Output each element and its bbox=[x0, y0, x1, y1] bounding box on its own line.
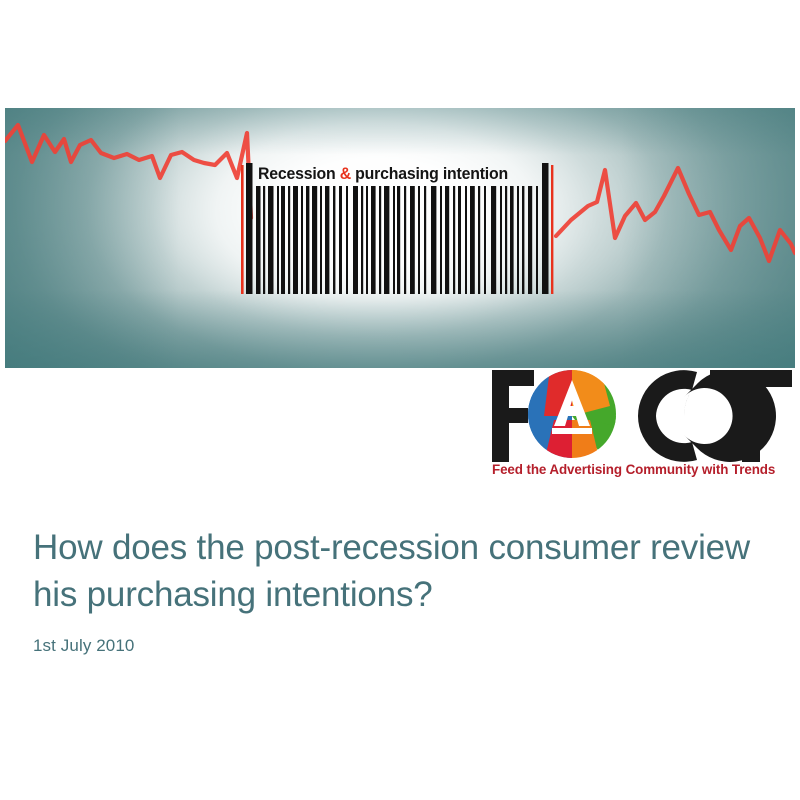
title-block: How does the post-recession consumer rev… bbox=[33, 524, 763, 657]
barcode-graphic: Recession & purchasing intention bbox=[240, 163, 560, 294]
fact-logo-mark: Feed the Advertising Community with Tren… bbox=[488, 366, 796, 478]
page-title: How does the post-recession consumer rev… bbox=[33, 524, 763, 618]
trend-line-left bbox=[5, 125, 251, 218]
fact-logo-color-wheel bbox=[528, 368, 616, 464]
trend-line-right bbox=[556, 168, 795, 261]
fact-logo-tagline: Feed the Advertising Community with Tren… bbox=[492, 462, 775, 477]
fact-logo-letter-f bbox=[492, 370, 534, 462]
fact-logo: Feed the Advertising Community with Tren… bbox=[488, 366, 796, 478]
slide-canvas: Recession & purchasing intention bbox=[0, 0, 800, 800]
slide-date: 1st July 2010 bbox=[33, 618, 763, 657]
barcode-bars bbox=[240, 163, 560, 294]
barcode-bar-group bbox=[246, 163, 549, 294]
